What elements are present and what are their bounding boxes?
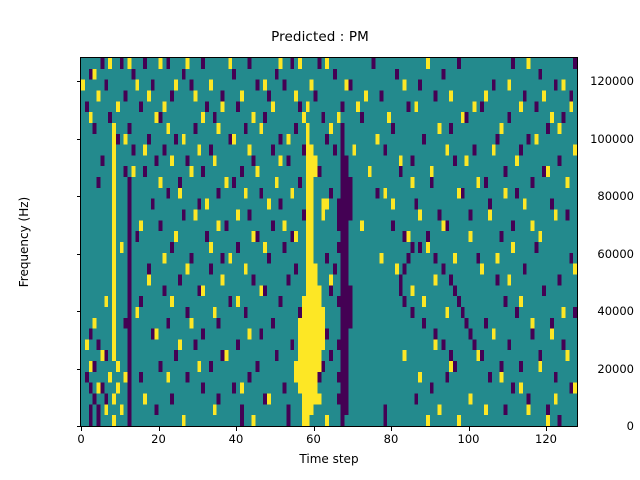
heatmap-axes [80,57,578,427]
y-tick-mark [77,254,81,255]
x-tick-label: 80 [361,432,421,446]
y-tick-label: 60000 [568,247,640,261]
y-tick-mark [77,139,81,140]
y-tick-label: 120000 [568,74,640,88]
x-tick-label: 100 [439,432,499,446]
heatmap-image [81,58,577,426]
chart-title: Predicted : PM [0,29,640,45]
y-tick-mark [77,81,81,82]
y-tick-label: 40000 [568,304,640,318]
y-tick-label: 0 [568,419,640,433]
x-tick-label: 0 [51,432,111,446]
y-tick-label: 20000 [568,362,640,376]
x-tick-mark [81,427,82,431]
x-tick-mark [391,427,392,431]
x-tick-mark [546,427,547,431]
matplotlib-figure: Predicted : PM Frequency (Hz) 0200004000… [0,0,640,480]
y-tick-mark [77,311,81,312]
x-tick-mark [159,427,160,431]
x-tick-label: 40 [206,432,266,446]
y-tick-mark [77,426,81,427]
x-axis-label: Time step [80,452,578,466]
y-tick-mark [77,196,81,197]
y-tick-label: 100000 [568,132,640,146]
x-tick-mark [314,427,315,431]
x-tick-mark [469,427,470,431]
y-axis-label: Frequency (Hz) [17,42,31,442]
x-tick-label: 20 [129,432,189,446]
x-tick-mark [236,427,237,431]
y-tick-mark [77,369,81,370]
y-tick-label: 80000 [568,189,640,203]
x-tick-label: 120 [516,432,576,446]
x-tick-label: 60 [284,432,344,446]
